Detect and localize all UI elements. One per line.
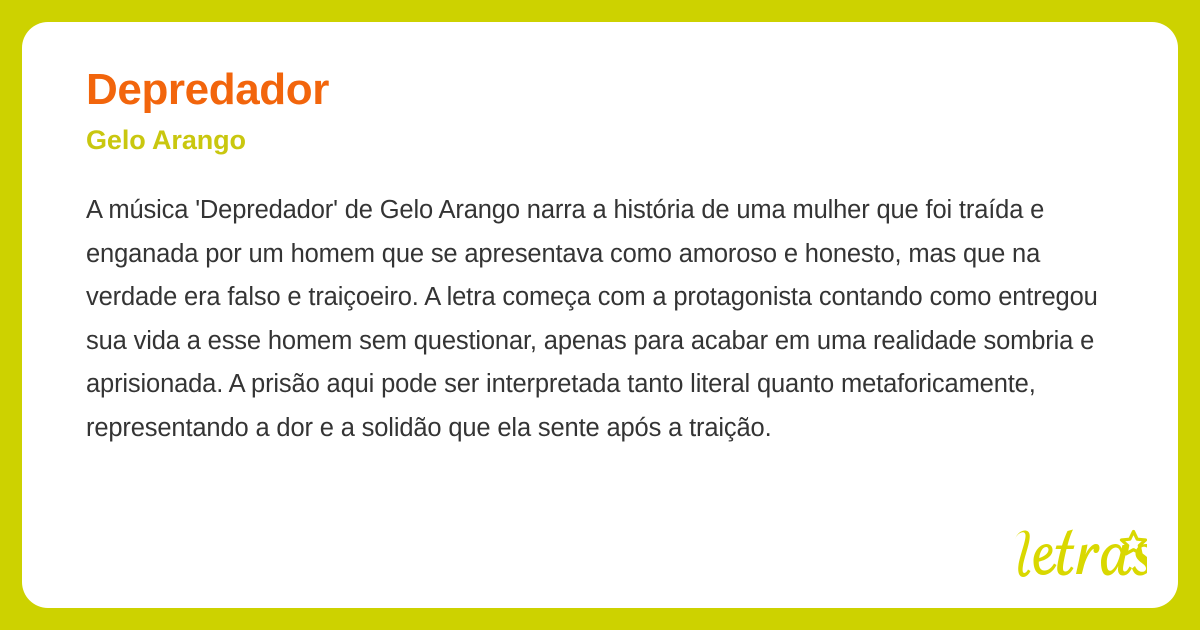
content-card: Depredador Gelo Arango A música 'Depreda…	[22, 22, 1178, 608]
letras-logo-svg	[1007, 527, 1147, 587]
card-content: Depredador Gelo Arango A música 'Depreda…	[86, 66, 1128, 450]
letras-logo[interactable]	[1007, 527, 1147, 587]
artist-name: Gelo Arango	[86, 126, 1128, 156]
star-icon	[1122, 532, 1146, 554]
song-description: A música 'Depredador' de Gelo Arango nar…	[86, 189, 1122, 450]
page-title: Depredador	[86, 66, 1128, 114]
